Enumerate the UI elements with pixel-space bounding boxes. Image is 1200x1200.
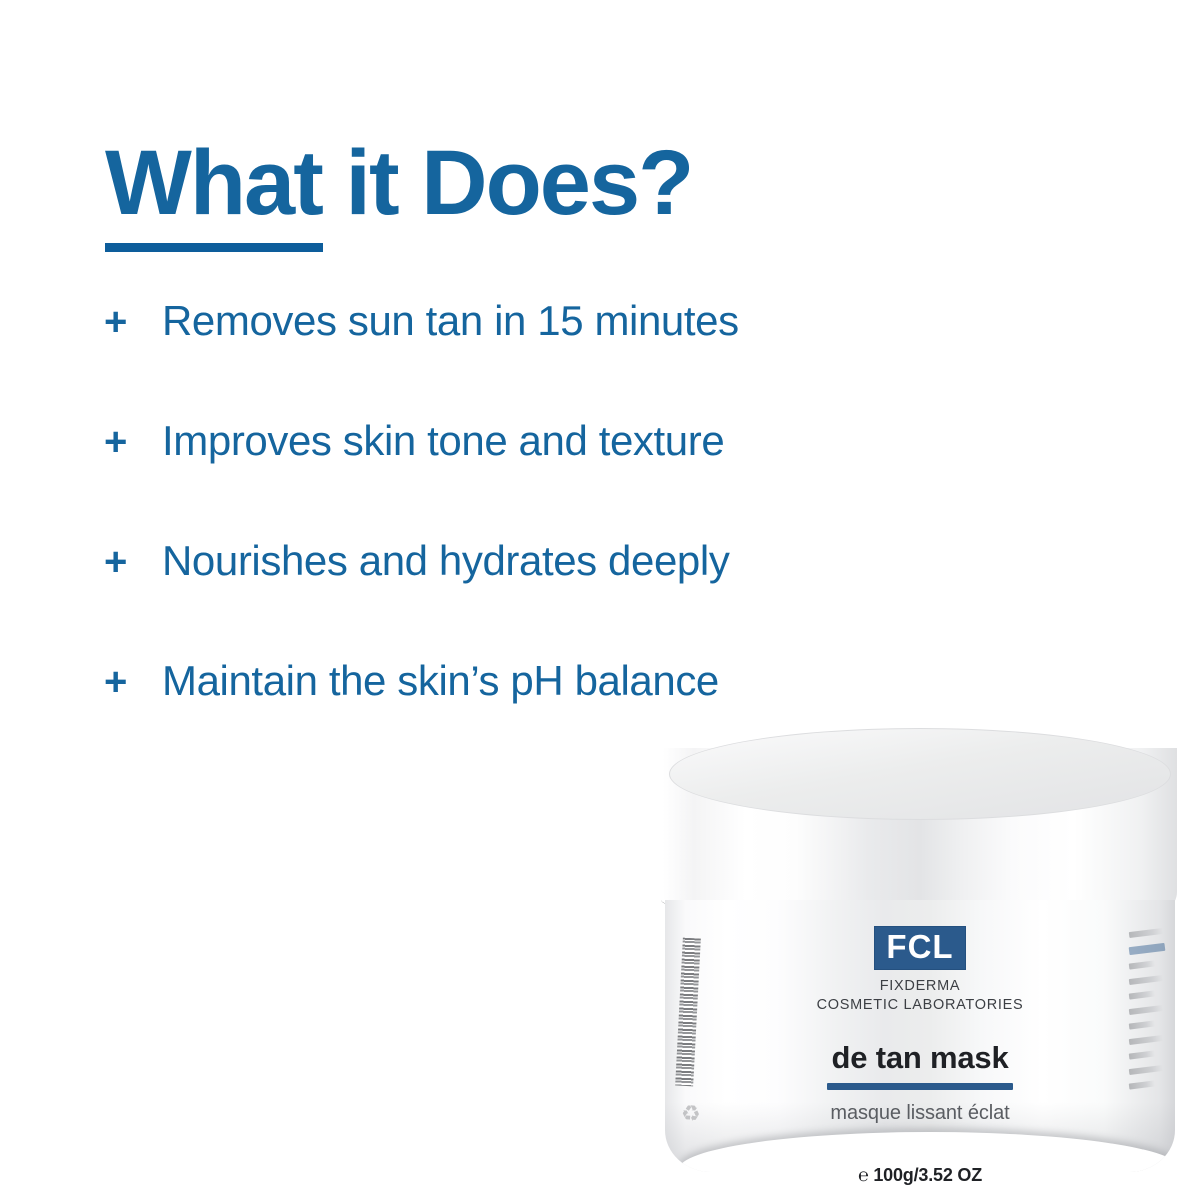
plus-icon: +	[104, 302, 162, 342]
product-subtitle: masque lissant éclat	[655, 1102, 1185, 1125]
benefit-text: Removes sun tan in 15 minutes	[162, 300, 739, 342]
heading-block: What it Does?	[105, 140, 805, 252]
plus-icon: +	[104, 662, 162, 702]
benefit-text: Improves skin tone and texture	[162, 420, 724, 462]
plus-icon: +	[104, 542, 162, 582]
list-item: + Nourishes and hydrates deeply	[104, 540, 1004, 660]
company-line-2: COSMETIC LABORATORIES	[655, 996, 1185, 1015]
product-name-rule	[827, 1083, 1013, 1090]
list-item: + Removes sun tan in 15 minutes	[104, 300, 1004, 420]
product-net-weight: ℮ 100g/3.52 OZ	[655, 1165, 1185, 1186]
benefit-list: + Removes sun tan in 15 minutes + Improv…	[104, 300, 1004, 780]
jar-lid-top-surface	[669, 728, 1171, 820]
page-title: What it Does?	[105, 140, 805, 227]
product-benefits-graphic: What it Does? + Removes sun tan in 15 mi…	[0, 0, 1200, 1200]
title-underline-bar	[105, 243, 323, 252]
fcl-brand-logo: FCL	[874, 926, 965, 970]
benefit-text: Maintain the skin’s pH balance	[162, 660, 719, 702]
plus-icon: +	[104, 422, 162, 462]
company-name: FIXDERMA COSMETIC LABORATORIES	[655, 977, 1185, 1015]
list-item: + Improves skin tone and texture	[104, 420, 1004, 540]
jar-label: FCL FIXDERMA COSMETIC LABORATORIES de ta…	[655, 926, 1185, 1186]
product-jar-image: ♻ FCL FIXDERMA COSMETIC LABORAT	[655, 730, 1185, 1200]
benefit-text: Nourishes and hydrates deeply	[162, 540, 729, 582]
company-line-1: FIXDERMA	[655, 977, 1185, 996]
product-name: de tan mask	[655, 1040, 1185, 1076]
